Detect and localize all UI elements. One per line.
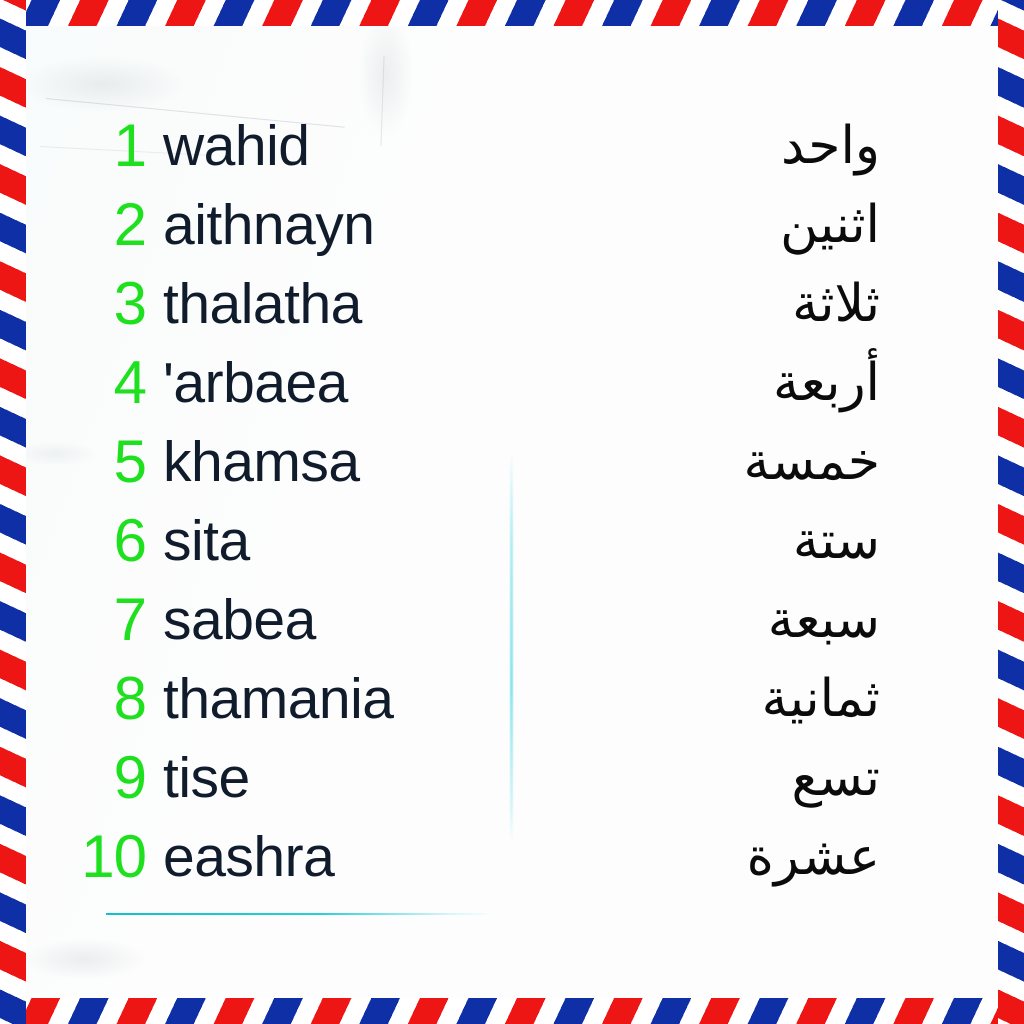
list-item: 9 tise تسع	[0, 742, 1024, 821]
stripe-pattern	[0, 998, 1024, 1024]
border-stripe-bottom	[0, 998, 1024, 1024]
list-item: 3 thalatha ثلاثة	[0, 268, 1024, 347]
row-arabic: أربعة	[773, 347, 880, 419]
row-arabic: واحد	[781, 110, 880, 182]
row-arabic: عشرة	[747, 821, 880, 893]
row-number: 2	[36, 189, 146, 261]
row-number: 7	[36, 584, 146, 656]
row-transliteration: wahid	[163, 110, 309, 182]
row-number: 9	[36, 742, 146, 814]
row-number: 5	[36, 426, 146, 498]
row-transliteration: 'arbaea	[163, 347, 348, 419]
row-number: 8	[36, 663, 146, 735]
numbers-card: 1 wahid واحد 2 aithnayn اثنين 3 thalatha…	[0, 0, 1024, 1024]
list-item: 4 'arbaea أربعة	[0, 347, 1024, 426]
row-arabic: سبعة	[768, 584, 880, 656]
border-stripe-right	[998, 0, 1024, 1024]
row-arabic: ثلاثة	[792, 268, 880, 340]
row-number: 10	[36, 821, 146, 893]
list-item: 10 eashra عشرة	[0, 821, 1024, 900]
list-item: 5 khamsa خمسة	[0, 426, 1024, 505]
row-transliteration: eashra	[163, 821, 334, 893]
row-arabic: ثمانية	[762, 663, 880, 735]
border-stripe-left	[0, 0, 26, 1024]
horizontal-rule	[106, 913, 494, 915]
row-arabic: تسع	[791, 742, 880, 814]
row-arabic: اثنين	[780, 189, 880, 261]
row-transliteration: sita	[163, 505, 250, 577]
row-transliteration: thamania	[163, 663, 394, 735]
list-item: 2 aithnayn اثنين	[0, 189, 1024, 268]
row-transliteration: tise	[163, 742, 250, 814]
row-arabic: خمسة	[744, 426, 880, 498]
stripe-pattern	[0, 0, 26, 1024]
row-number: 6	[36, 505, 146, 577]
row-transliteration: khamsa	[163, 426, 360, 498]
row-arabic: ستة	[793, 505, 880, 577]
row-number: 1	[36, 110, 146, 182]
list-item: 7 sabea سبعة	[0, 584, 1024, 663]
stripe-pattern	[998, 0, 1024, 1024]
row-transliteration: thalatha	[163, 268, 362, 340]
row-number: 3	[36, 268, 146, 340]
list-item: 8 thamania ثمانية	[0, 663, 1024, 742]
list-item: 6 sita ستة	[0, 505, 1024, 584]
row-transliteration: sabea	[163, 584, 316, 656]
stripe-pattern	[0, 0, 1024, 26]
row-number: 4	[36, 347, 146, 419]
row-transliteration: aithnayn	[163, 189, 375, 261]
number-list: 1 wahid واحد 2 aithnayn اثنين 3 thalatha…	[0, 110, 1024, 900]
border-stripe-top	[0, 0, 1024, 26]
list-item: 1 wahid واحد	[0, 110, 1024, 189]
